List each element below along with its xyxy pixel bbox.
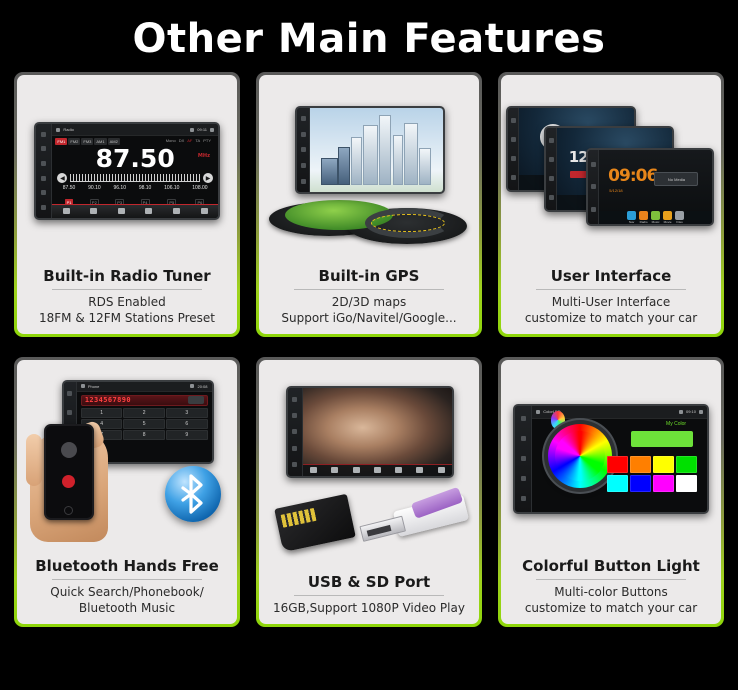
card-title: Colorful Button Light [522,557,700,576]
feature-card-radio[interactable]: Radio 09:11 FM1 FM2 FM3 [14,72,240,337]
unit-side-rail [288,388,303,476]
usb-flash-drive [357,492,470,551]
ui-screen-3: 09:06 09:06 5/12/18 No Media Nav [599,150,712,224]
key-5[interactable]: 5 [123,419,165,429]
card-title: Built-in Radio Tuner [43,267,210,286]
my-color-preview [631,431,693,447]
building [393,135,404,185]
card-subtitle-1: 16GB,Support 1080P Video Play [265,600,473,616]
card-subtitle-1: RDS Enabled [23,294,231,310]
road-centerline [371,214,445,232]
caller-avatar [61,442,77,458]
bluetooth-icon [165,466,221,522]
movie-icon[interactable] [663,211,672,220]
unit-side-rail [36,124,52,218]
rail-icon [292,413,297,418]
next-icon[interactable] [374,467,381,473]
app-dock[interactable]: Nav Radio Music [599,211,712,224]
preset-freq: 108.00 [192,185,207,191]
band-fm1[interactable]: FM1 [55,138,67,145]
home-button[interactable] [64,506,73,515]
building [338,147,350,186]
building [351,137,362,186]
card-subtitle-2: Support iGo/Navitel/Google... [265,310,473,326]
building [404,123,417,185]
previous-icon[interactable] [331,467,338,473]
key-3[interactable]: 3 [166,408,208,418]
dock-item-nav[interactable]: Nav [627,211,636,224]
rail-icon [511,118,516,123]
rail-icon [521,476,526,481]
rail-icon [549,195,554,200]
rail-icon [511,175,516,180]
card-subtitle-2: customize to match your car [507,600,715,616]
bluetooth-icon [679,410,683,414]
title-divider [536,579,686,580]
building [363,125,378,185]
band-fm3[interactable]: FM3 [81,138,93,145]
usb-artwork: 00:10 [259,360,479,573]
rail-icon [301,147,306,152]
bluetooth-artwork: Phone 20:08 1234567890 [17,360,237,557]
title-divider [52,289,202,290]
rail-icon [301,163,306,168]
frequency-display: 87.50 MHz [52,146,218,172]
bluetooth-icon [190,384,194,388]
rail-icon [521,456,526,461]
no-media-button[interactable]: No Media [654,172,698,186]
card-subtitle-1: Multi-User Interface [507,294,715,310]
menu-icon[interactable] [310,467,317,473]
smartphone [44,424,94,520]
rail-icon [521,416,526,421]
dock-label: Movie [664,220,672,224]
dock-item-music[interactable]: Music [651,211,660,224]
unit-side-rail [515,406,532,512]
rail-icon [521,496,526,501]
rail-icon [292,397,297,402]
swatch-red[interactable] [607,456,628,473]
back-icon [210,128,214,132]
preset-freq: 98.10 [139,185,152,191]
home-icon [536,410,540,414]
led-artwork: ColorLED 09:10 My Color [501,360,721,557]
digital-clock: 09:06 [608,166,657,186]
pause-icon[interactable] [353,467,360,473]
unit-side-rail [546,128,557,210]
dock-label: Radio [640,220,648,224]
card-title: Built-in GPS [319,267,420,286]
colorled-screen: ColorLED 09:10 My Color [532,406,707,512]
rail-icon [41,176,46,181]
eq-icon[interactable] [145,208,152,214]
title-divider [52,579,202,580]
video-control-bar[interactable] [303,464,452,476]
feature-card-button-light[interactable]: ColorLED 09:10 My Color [498,357,724,627]
next-icon[interactable] [173,208,180,214]
menu-icon[interactable] [63,208,70,214]
rail-icon [549,138,554,143]
rail-icon [511,156,516,161]
status-bar: Radio 09:11 [52,124,218,136]
feature-grid: Radio 09:11 FM1 FM2 FM3 [0,72,738,627]
preset-freq: 106.10 [164,185,179,191]
preset-freq: 87.50 [63,185,76,191]
rail-icon [301,132,306,137]
hand-holding-phone [24,392,124,542]
status-clock: 09:11 [197,127,207,132]
card-subtitle-2: Bluetooth Music [23,600,231,616]
scan-icon[interactable] [118,208,125,214]
key-2[interactable]: 2 [123,408,165,418]
video-screen: 00:10 [303,388,452,476]
previous-icon[interactable] [90,208,97,214]
card-subtitle-2: customize to match your car [507,310,715,326]
key-9[interactable]: 9 [166,430,208,440]
swatch-magenta[interactable] [653,475,674,492]
rail-icon [41,161,46,166]
dock-label: Nav [629,220,634,224]
head-unit-gps [295,106,445,194]
color-wheel[interactable] [548,424,612,488]
card-title: USB & SD Port [308,573,430,592]
home-icon [56,128,60,132]
my-color-label: My Color [666,421,686,427]
dock-item-radio[interactable]: Radio [639,211,648,224]
unit-side-rail [588,150,599,224]
building [321,158,338,185]
page-title: Other Main Features [0,0,738,72]
rail-icon [301,179,306,184]
fullscreen-icon[interactable] [416,467,423,473]
band-fm2[interactable]: FM2 [68,138,80,145]
rail-icon [41,146,46,151]
files-icon[interactable] [675,211,684,220]
rail-icon [292,446,297,451]
rail-icon [41,205,46,210]
gps-screen [310,108,443,192]
usb-connector [359,516,406,542]
tuning-row[interactable]: ◀ ▶ [52,173,218,183]
repeat-icon[interactable] [438,467,445,473]
date-label: 5/12/18 [609,188,622,193]
bulb-icon [551,411,565,429]
head-unit-ui-3: 09:06 09:06 5/12/18 No Media Nav [586,148,714,226]
gps-artwork [259,75,479,267]
card-subtitle-1: Multi-color Buttons [507,584,715,600]
stop-icon[interactable] [395,467,402,473]
radio-screen: Radio 09:11 FM1 FM2 FM3 [52,124,218,218]
back-icon [699,410,703,414]
dock-label: Files [676,220,682,224]
music-icon[interactable] [651,211,660,220]
head-unit-radio: Radio 09:11 FM1 FM2 FM3 [34,122,220,220]
feature-card-bluetooth[interactable]: Phone 20:08 1234567890 [14,357,240,627]
dock-label: Music [652,220,660,224]
rail-icon [511,137,516,142]
preset-freq: 90.10 [88,185,101,191]
tuning-scale[interactable] [70,174,200,182]
card-subtitle-1: 2D/3D maps [265,294,473,310]
head-unit-colorled: ColorLED 09:10 My Color [513,404,709,514]
swatch-cyan[interactable] [607,475,628,492]
building [379,115,391,186]
nav-icon[interactable] [627,211,636,220]
sd-contacts [281,508,317,528]
title-divider [536,289,686,290]
radio-icon[interactable] [639,211,648,220]
meta-af[interactable]: AF [187,138,192,145]
unit-side-rail [297,108,310,192]
building [419,148,431,185]
swatch-yellow[interactable] [653,456,674,473]
status-clock: 09:10 [686,409,696,414]
tune-up-icon[interactable]: ▶ [203,173,213,183]
card-title: User Interface [551,267,672,286]
rail-icon [591,184,596,189]
unit-side-rail [508,108,519,190]
end-call-icon[interactable] [62,475,75,488]
rail-icon [549,176,554,181]
tune-down-icon[interactable]: ◀ [57,173,67,183]
home-icon [81,384,85,388]
dock-item-movie[interactable]: Movie [663,211,672,224]
rail-icon [301,116,306,121]
feature-card-usb-sd[interactable]: 00:10 [256,357,482,627]
ui-artwork: 19:04 19:04 [501,75,721,267]
radio-artwork: Radio 09:11 FM1 FM2 FM3 [17,75,237,267]
meta-dx[interactable]: DX [179,138,185,145]
frequency-unit: MHz [198,143,210,169]
feature-card-user-interface[interactable]: 19:04 19:04 [498,72,724,337]
card-title: Bluetooth Hands Free [35,557,219,576]
feature-card-gps[interactable]: Built-in GPS 2D/3D maps Support iGo/Navi… [256,72,482,337]
swatch-white[interactable] [676,475,697,492]
dock-item-files[interactable]: Files [675,211,684,224]
list-icon[interactable] [201,208,208,214]
status-clock: 20:08 [197,384,207,389]
caller-name [68,461,69,466]
card-subtitle-1: Quick Search/Phonebook/ [23,584,231,600]
rail-icon [292,429,297,434]
backspace-icon[interactable] [188,396,204,404]
finger [26,434,42,486]
sd-card [274,494,356,552]
rail-icon [41,132,46,137]
swatch-green[interactable] [676,456,697,473]
radio-app-name: Radio [63,127,73,132]
rail-icon [591,207,596,212]
phone-app-name: Phone [88,384,100,389]
title-divider [294,289,444,290]
preset-freq: 96.10 [113,185,126,191]
swatch-blue[interactable] [630,475,651,492]
title-divider [294,595,444,596]
gps-icon [190,128,194,132]
feature-page: Other Main Features [0,0,738,690]
head-unit-video: 00:10 [286,386,454,478]
status-bar: Phone 20:08 [77,382,212,392]
color-swatch-grid[interactable] [607,456,697,492]
frequency-value: 87.50 [96,144,175,173]
rail-icon [591,162,596,167]
rail-icon [292,462,297,467]
radio-control-bar[interactable] [52,204,218,218]
key-6[interactable]: 6 [166,419,208,429]
key-8[interactable]: 8 [123,430,165,440]
rail-icon [41,190,46,195]
rail-icon [549,157,554,162]
card-subtitle-2: 18FM & 12FM Stations Preset [23,310,231,326]
rail-icon [521,436,526,441]
swatch-orange[interactable] [630,456,651,473]
